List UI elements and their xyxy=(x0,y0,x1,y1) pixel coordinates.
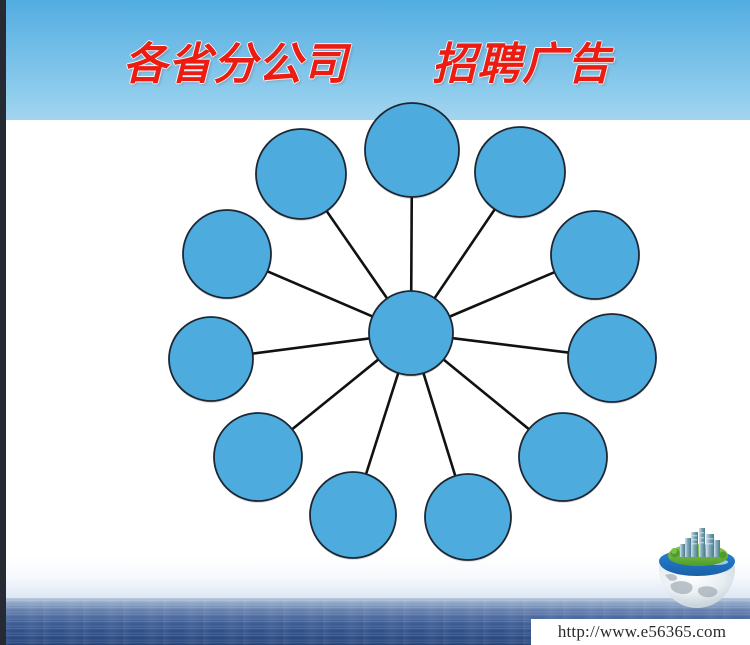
spoke-line-node-upper-left xyxy=(326,210,388,299)
node-bottom-left-circle[interactable] xyxy=(310,472,396,558)
node-left-upper-circle[interactable] xyxy=(183,210,271,298)
node-top[interactable] xyxy=(365,103,459,199)
spoke-line-node-lower-left xyxy=(291,359,379,430)
spoke-line-node-right-mid xyxy=(452,338,570,353)
hub-node-circle[interactable] xyxy=(369,291,453,375)
node-right-upper[interactable] xyxy=(551,211,639,301)
node-upper-left-circle[interactable] xyxy=(256,129,346,219)
spoke-line-node-top xyxy=(411,196,412,292)
node-right-mid[interactable] xyxy=(568,314,656,404)
spoke-line-node-right-upper xyxy=(449,272,556,317)
url-watermark-text: http://www.e56365.com xyxy=(558,622,726,642)
hub-node-group xyxy=(369,291,453,377)
spoke-line-node-left-mid xyxy=(252,338,371,353)
node-bottom-right-circle[interactable] xyxy=(425,474,511,560)
node-left-mid[interactable] xyxy=(169,317,253,403)
spoke-line-node-lower-right xyxy=(443,359,530,430)
node-upper-right[interactable] xyxy=(475,127,565,219)
node-bottom-right[interactable] xyxy=(425,474,511,562)
node-upper-left[interactable] xyxy=(256,129,346,221)
node-left-mid-circle[interactable] xyxy=(169,317,253,401)
globe-city-skyline xyxy=(680,528,720,557)
spoke-line-node-bottom-right xyxy=(423,372,455,477)
node-bottom-left[interactable] xyxy=(310,472,396,560)
node-lower-right-circle[interactable] xyxy=(519,413,607,501)
slide-canvas: 各省分公司 招聘广告 xyxy=(0,0,750,645)
node-right-upper-circle[interactable] xyxy=(551,211,639,299)
globe-city-logo xyxy=(651,528,743,610)
hub-and-spoke-diagram xyxy=(3,0,750,645)
spoke-line-node-left-upper xyxy=(267,271,374,317)
spoke-line-node-bottom-left xyxy=(366,372,399,475)
spoke-line-node-upper-right xyxy=(434,208,495,299)
node-lower-left-circle[interactable] xyxy=(214,413,302,501)
node-left-upper[interactable] xyxy=(183,210,271,300)
node-upper-right-circle[interactable] xyxy=(475,127,565,217)
url-watermark-bar: http://www.e56365.com xyxy=(531,619,750,645)
node-lower-right[interactable] xyxy=(519,413,607,503)
node-right-mid-circle[interactable] xyxy=(568,314,656,402)
node-lower-left[interactable] xyxy=(214,413,302,503)
node-top-circle[interactable] xyxy=(365,103,459,197)
